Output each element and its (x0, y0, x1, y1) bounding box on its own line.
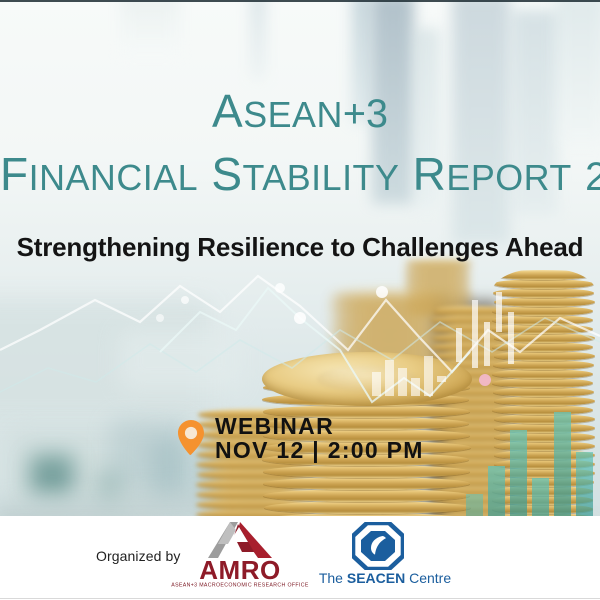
webinar-text: WEBINAR NOV 12 | 2:00 PM (215, 414, 424, 463)
seacen-logo[interactable]: The SEACEN Centre (310, 522, 460, 592)
title-a: A (212, 85, 243, 137)
poster-canvas: ASEAN+3 FINANCIAL STABILITY REPORT 2024 … (0, 0, 600, 600)
title-f: F (0, 148, 29, 200)
amro-logo[interactable]: AMRO ASEAN+3 MACROECONOMIC RESEARCH OFFI… (186, 522, 294, 594)
title-year: 2024 (585, 155, 600, 199)
seacen-octagon-icon (352, 522, 404, 570)
title-line-2: FINANCIAL STABILITY REPORT 2024 (0, 151, 600, 198)
title-sean: SEAN (243, 95, 343, 135)
seacen-prefix: The (319, 570, 347, 586)
amro-tagline: ASEAN+3 MACROECONOMIC RESEARCH OFFICE (162, 582, 319, 588)
amro-chevron-icon (208, 522, 272, 558)
title-r: R (413, 148, 447, 200)
coin-top-face (262, 352, 472, 406)
footer-divider (0, 598, 600, 599)
organized-by-label: Organized by (96, 548, 180, 564)
title-s: S (211, 148, 242, 200)
top-edge-line (0, 0, 600, 2)
location-pin-icon (178, 420, 204, 456)
webinar-datetime: NOV 12 | 2:00 PM (215, 438, 424, 462)
footer-bar: Organized by AMRO ASEAN+3 MACROECONOMIC … (0, 516, 600, 600)
title-tability: TABILITY (243, 158, 400, 198)
seacen-suffix: Centre (405, 570, 451, 586)
seacen-wordmark: The SEACEN Centre (310, 570, 460, 586)
title-line-1: ASEAN+3 (0, 88, 600, 135)
webinar-label: WEBINAR (215, 414, 424, 438)
seacen-bold: SEACEN (347, 570, 405, 586)
title-block: ASEAN+3 FINANCIAL STABILITY REPORT 2024 (0, 88, 600, 197)
poster-subtitle: Strengthening Resilience to Challenges A… (0, 232, 600, 263)
title-eport: EPORT (446, 158, 571, 198)
title-plus3: +3 (343, 92, 388, 136)
title-inancial: INANCIAL (29, 158, 198, 198)
webinar-info-block: WEBINAR NOV 12 | 2:00 PM (178, 414, 424, 463)
